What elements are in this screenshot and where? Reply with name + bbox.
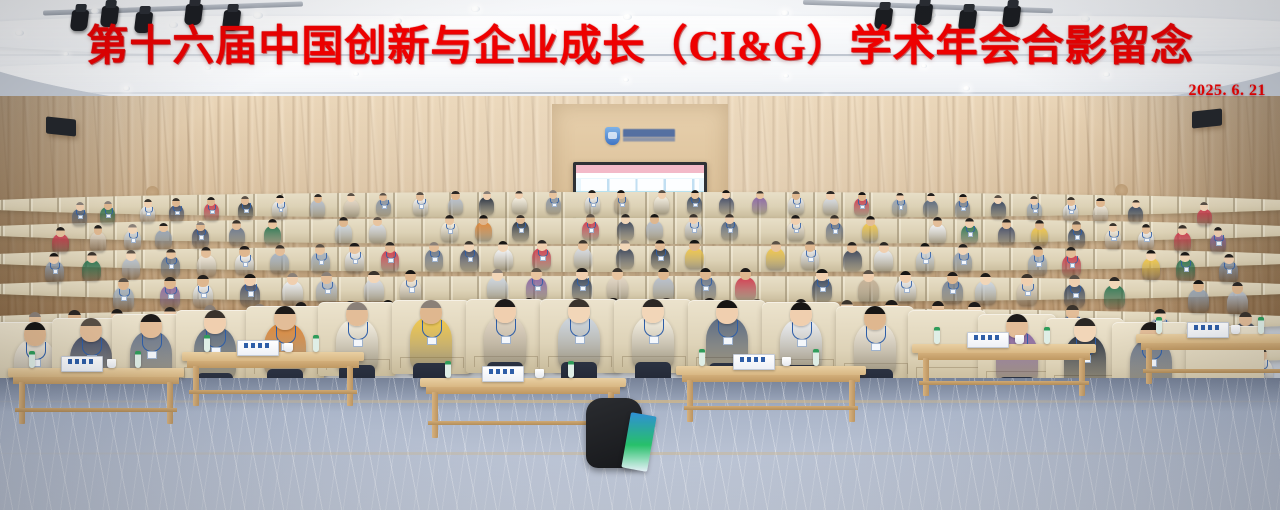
- name-badge: [833, 229, 838, 234]
- attendee-head: [959, 194, 967, 203]
- name-badge: [961, 207, 966, 211]
- attendee-head: [128, 224, 137, 234]
- attendee-head: [166, 249, 176, 260]
- downlight-icon: [963, 86, 970, 91]
- table-leg: [1079, 358, 1085, 396]
- attendee-body: [929, 224, 946, 243]
- attendee-body: [264, 226, 281, 245]
- water-bottle: [1258, 317, 1264, 334]
- attendee-head: [621, 214, 630, 224]
- water-bottle: [568, 361, 574, 378]
- table-apron: [187, 361, 358, 368]
- attendee-head: [1072, 221, 1081, 231]
- attendee-head: [866, 216, 875, 226]
- attendee-body: [998, 226, 1015, 245]
- attendee-body: [1174, 232, 1191, 251]
- attendee-head: [1214, 227, 1223, 237]
- coffee-table: [912, 344, 1096, 396]
- attendee-body: [1142, 258, 1161, 280]
- attendee-head: [617, 190, 625, 199]
- attendee-head: [1096, 198, 1104, 207]
- attendee-head: [1146, 250, 1156, 261]
- attendee-body: [82, 260, 101, 282]
- attendee-body: [1128, 206, 1143, 223]
- table-apron: [682, 375, 861, 382]
- attendee-head: [275, 245, 285, 256]
- attendee-body: [90, 232, 107, 251]
- name-placard: [482, 366, 524, 382]
- attendee-body: [369, 224, 386, 243]
- name-badge: [540, 256, 546, 261]
- attendee-head: [347, 193, 355, 202]
- conference-group-photo: 第十六届中国创新与企业成长（CI&G）学术年会合影留念 2025. 6. 21: [0, 0, 1280, 510]
- attendee-head: [792, 191, 800, 200]
- attendee-head: [1067, 197, 1075, 206]
- vip-head: [346, 302, 368, 326]
- name-badge: [552, 203, 557, 207]
- attendee-head: [268, 219, 277, 229]
- water-bottle: [445, 361, 451, 378]
- name-badge: [468, 257, 474, 262]
- attendee-head: [1030, 196, 1038, 205]
- name-placard: [1187, 322, 1229, 338]
- attendee-head: [826, 191, 834, 200]
- attendee-head: [927, 193, 935, 202]
- attendee-head: [339, 217, 348, 227]
- attendee-head: [276, 195, 284, 204]
- attendee-head: [740, 268, 751, 280]
- coffee-mug: [107, 359, 116, 368]
- attendee-body: [310, 200, 325, 217]
- attendee-body: [155, 230, 172, 249]
- attendee-head: [879, 242, 889, 253]
- name-badge: [1070, 263, 1076, 268]
- table-leg: [347, 366, 353, 406]
- name-badge: [147, 351, 157, 359]
- attendee-head: [689, 240, 699, 251]
- attendee-head: [771, 241, 781, 252]
- name-badge: [432, 257, 438, 262]
- table-leg: [167, 382, 173, 424]
- name-badge: [427, 337, 437, 345]
- name-badge: [319, 260, 325, 265]
- coffee-mug: [535, 369, 544, 378]
- attendee-head: [725, 214, 734, 224]
- water-bottle: [313, 335, 319, 352]
- attendee-body: [991, 201, 1006, 218]
- name-badge: [1075, 235, 1080, 240]
- attendee-body: [616, 248, 635, 270]
- downlight-icon: [123, 86, 130, 91]
- attendee-body: [843, 250, 862, 272]
- attendee-head: [405, 270, 416, 282]
- attendee-head: [159, 223, 168, 233]
- table-leg: [687, 380, 693, 422]
- table-leg: [19, 382, 25, 424]
- name-badge: [860, 205, 865, 209]
- attendee-head: [658, 268, 669, 280]
- attendee-head: [314, 194, 322, 203]
- attendee-body: [766, 248, 785, 270]
- attendee-head: [373, 217, 382, 227]
- water-bottle: [699, 349, 705, 366]
- attendee-body: [475, 222, 492, 241]
- table-apron: [918, 353, 1091, 360]
- table-stretcher: [919, 381, 1088, 385]
- attendee-head: [896, 193, 904, 202]
- attendee-head: [385, 242, 395, 253]
- attendee-head: [429, 242, 439, 253]
- attendee-head: [655, 240, 665, 251]
- downlight-icon: [91, 8, 99, 14]
- name-badge: [1069, 210, 1074, 214]
- attendee-head: [56, 227, 65, 237]
- name-badge: [243, 262, 249, 267]
- name-badge: [795, 204, 800, 208]
- attendee-head: [1035, 220, 1044, 230]
- attendee-head: [650, 214, 659, 224]
- vip-head: [140, 314, 162, 338]
- attendee-body: [719, 197, 734, 214]
- coffee-table: [8, 368, 184, 424]
- name-placard: [61, 356, 103, 372]
- coffee-table: [182, 352, 364, 406]
- name-badge: [794, 229, 799, 234]
- attendee-head: [416, 192, 424, 201]
- name-placard: [733, 354, 775, 370]
- attendee-head: [958, 244, 968, 255]
- attendee-head: [830, 215, 839, 225]
- name-badge: [448, 229, 453, 234]
- attendee-body: [617, 221, 634, 240]
- attendee-head: [144, 199, 152, 208]
- coffee-mug: [1015, 335, 1024, 344]
- vip-head: [790, 302, 812, 326]
- name-placard: [237, 340, 279, 356]
- attendee-body: [646, 221, 663, 240]
- vip-head: [1074, 318, 1096, 342]
- name-badge: [1216, 241, 1221, 246]
- university-wordmark: [623, 129, 675, 144]
- name-badge: [419, 204, 424, 208]
- table-leg: [193, 366, 199, 406]
- attendee-head: [76, 202, 84, 211]
- attendee-head: [104, 201, 112, 210]
- attendee-body: [512, 197, 527, 214]
- attendee-body: [494, 249, 513, 271]
- downlight-icon: [781, 10, 789, 16]
- attendee-head: [620, 240, 630, 251]
- attendee-body: [685, 248, 704, 270]
- table-apron: [13, 377, 178, 384]
- attendee-body: [122, 258, 141, 280]
- attendee-head: [933, 217, 942, 227]
- attendee-body: [270, 253, 289, 275]
- name-badge: [923, 259, 929, 264]
- attendee-head: [691, 190, 699, 199]
- name-badge: [620, 203, 625, 207]
- attendee-body: [874, 250, 893, 272]
- placard-text: [974, 335, 1003, 340]
- shield-icon: [605, 127, 620, 145]
- attendee-body: [448, 198, 463, 215]
- attendee-head: [791, 215, 800, 225]
- name-badge: [1033, 209, 1038, 213]
- name-badge: [728, 228, 733, 233]
- attendee-head: [498, 241, 508, 252]
- placard-text: [1194, 325, 1223, 330]
- vip-head: [864, 306, 886, 330]
- attendee-body: [823, 198, 838, 215]
- name-badge: [723, 337, 733, 345]
- attendee-body: [197, 255, 216, 277]
- name-badge: [797, 339, 807, 347]
- attendee-head: [965, 218, 974, 228]
- name-badge: [501, 336, 511, 344]
- water-bottle: [29, 351, 35, 368]
- attendee-head: [920, 243, 930, 254]
- name-badge: [353, 339, 363, 347]
- vip-head: [420, 300, 442, 324]
- name-badge: [589, 228, 594, 233]
- attendee-body: [1031, 227, 1048, 246]
- backpack: [586, 398, 642, 468]
- name-badge: [53, 269, 59, 274]
- attendee-body: [1197, 209, 1212, 226]
- name-badge: [1111, 237, 1116, 242]
- attendee-head: [700, 268, 711, 280]
- name-badge: [1144, 238, 1149, 243]
- attendee-head: [315, 244, 325, 255]
- name-badge: [1184, 267, 1190, 272]
- name-badge: [382, 205, 387, 209]
- speaker-icon: [46, 116, 76, 136]
- name-badge: [961, 260, 967, 265]
- attendee-head: [368, 271, 379, 283]
- coffee-mug: [1231, 325, 1240, 334]
- name-badge: [388, 258, 394, 263]
- name-placard: [967, 332, 1009, 348]
- name-badge: [1036, 262, 1042, 267]
- name-badge: [244, 209, 249, 213]
- attendee-head: [207, 197, 215, 206]
- placard-text: [68, 359, 97, 364]
- attendee-head: [994, 195, 1002, 204]
- attendee-head: [588, 190, 596, 199]
- vip-head: [274, 306, 296, 330]
- attendee-head: [483, 191, 491, 200]
- attendee-body: [862, 223, 879, 242]
- attendee-head: [1002, 219, 1011, 229]
- name-badge: [871, 343, 881, 351]
- attendee-head: [847, 242, 857, 253]
- speaker-icon: [1192, 108, 1222, 128]
- name-badge: [106, 214, 111, 218]
- attendee-body: [574, 248, 593, 270]
- name-badge: [808, 257, 814, 262]
- attendee-head: [586, 214, 595, 224]
- coffee-mug: [782, 357, 791, 366]
- attendee-head: [689, 214, 698, 224]
- coffee-mug: [284, 343, 293, 352]
- attendee-head: [863, 270, 874, 282]
- table-stretcher: [189, 390, 356, 394]
- attendee-body: [752, 197, 767, 214]
- attendee-head: [349, 243, 359, 254]
- attendee-head: [516, 215, 525, 225]
- name-badge: [210, 210, 215, 214]
- attendee-head: [1178, 225, 1187, 235]
- name-badge: [175, 211, 180, 215]
- attendee-head: [858, 192, 866, 201]
- name-badge: [78, 215, 83, 219]
- name-badge: [649, 336, 659, 344]
- ceiling-seam: [0, 92, 1280, 94]
- water-bottle: [813, 349, 819, 366]
- attendee-head: [126, 250, 136, 261]
- vip-head: [494, 299, 516, 323]
- name-badge: [169, 264, 175, 269]
- attendee-body: [335, 224, 352, 243]
- vip-head: [568, 299, 590, 323]
- name-badge: [353, 259, 359, 264]
- table-stretcher: [15, 408, 177, 412]
- attendee-head: [578, 240, 588, 251]
- placard-text: [489, 369, 518, 374]
- attendee-head: [537, 240, 547, 251]
- attendee-body: [344, 200, 359, 217]
- attendee-body: [52, 234, 69, 253]
- attendee-head: [1033, 246, 1043, 257]
- vip-head: [80, 318, 102, 342]
- attendee-body: [1093, 205, 1108, 222]
- water-bottle: [1044, 327, 1050, 344]
- coffee-table: [676, 366, 866, 422]
- name-badge: [899, 205, 904, 209]
- table-leg: [923, 358, 929, 396]
- attendee-body: [923, 200, 938, 217]
- name-badge: [199, 235, 204, 240]
- table-leg: [849, 380, 855, 422]
- photo-date: 2025. 6. 21: [1189, 82, 1267, 100]
- water-bottle: [135, 351, 141, 368]
- placard-text: [244, 343, 273, 348]
- table-stretcher: [1143, 369, 1280, 373]
- name-badge: [131, 238, 136, 243]
- table-stretcher: [684, 406, 859, 410]
- water-bottle: [204, 335, 210, 352]
- attendee-head: [900, 271, 911, 283]
- attendee-head: [612, 268, 623, 280]
- placard-text: [740, 357, 769, 362]
- name-badge: [575, 336, 585, 344]
- attendee-head: [1224, 254, 1234, 265]
- attendee-head: [87, 252, 97, 263]
- attendee-head: [816, 269, 827, 281]
- downlight-icon: [1103, 72, 1110, 77]
- name-badge: [591, 203, 596, 207]
- name-badge: [968, 232, 973, 237]
- attendee-body: [479, 197, 494, 214]
- name-badge: [658, 256, 664, 261]
- name-badge: [1227, 269, 1233, 274]
- vip-head: [716, 300, 738, 324]
- attendee-head: [658, 190, 666, 199]
- attendee-head: [479, 215, 488, 225]
- attendee-head: [1142, 224, 1151, 234]
- attendee-body: [229, 227, 246, 246]
- coffee-table: [1136, 334, 1280, 384]
- table-apron: [426, 387, 620, 394]
- table-leg: [432, 392, 438, 438]
- attendee-head: [445, 215, 454, 225]
- name-badge: [519, 228, 524, 233]
- attendee-body: [654, 196, 669, 213]
- attendee-head: [451, 191, 459, 200]
- water-bottle: [934, 327, 940, 344]
- water-bottle: [1156, 317, 1162, 334]
- page-title: 第十六届中国创新与企业成长（CI&G）学术年会合影留念: [0, 26, 1280, 68]
- vip-head: [204, 310, 226, 334]
- attendee-head: [241, 196, 249, 205]
- attendee-head: [239, 246, 249, 257]
- table-leg: [1146, 348, 1152, 384]
- attendee-head: [196, 222, 205, 232]
- attendee-head: [1132, 200, 1140, 209]
- name-badge: [692, 228, 697, 233]
- attendee-head: [576, 268, 587, 280]
- table-apron: [1141, 343, 1280, 350]
- name-badge: [146, 212, 151, 216]
- name-badge: [693, 203, 698, 207]
- name-badge: [279, 208, 284, 212]
- vip-head: [24, 322, 46, 346]
- attendee-head: [756, 191, 764, 200]
- university-logo: [605, 126, 675, 146]
- attendee-head: [492, 269, 503, 281]
- vip-head: [642, 299, 664, 323]
- attendee-head: [805, 241, 815, 252]
